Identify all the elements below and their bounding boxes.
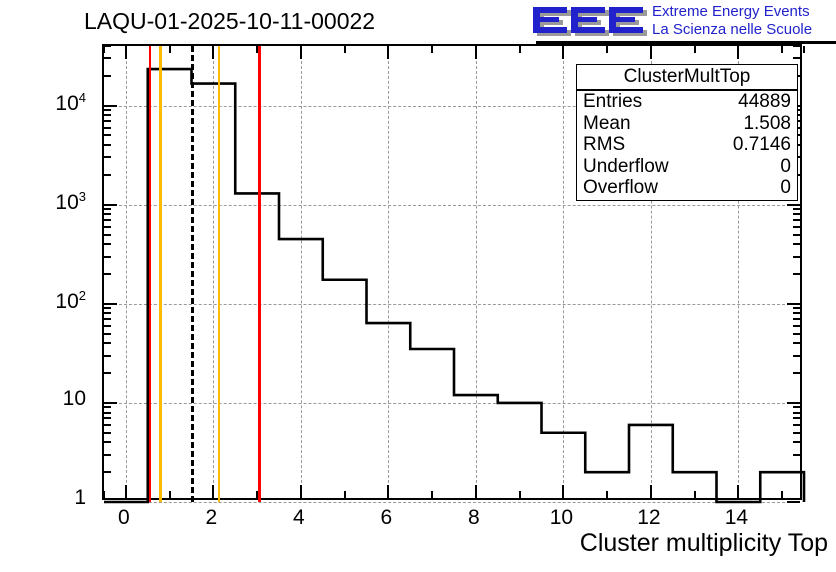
gridline-horizontal (104, 502, 800, 503)
eee-logo-line1: Extreme Energy Events (652, 3, 812, 21)
stats-row: Overflow0 (577, 177, 797, 199)
stats-row: Entries44889 (577, 91, 797, 113)
stats-row-value: 0.7146 (733, 134, 791, 156)
y-axis-tick-label: 102 (0, 288, 86, 314)
x-axis-tick-label: 6 (361, 506, 411, 530)
eee-logo-text: Extreme Energy Events La Scienza nelle S… (652, 3, 812, 39)
stats-row-value: 0 (780, 156, 791, 178)
x-axis-title: Cluster multiplicity Top (580, 529, 828, 558)
x-axis-tick-label: 8 (449, 506, 499, 530)
y-axis-tick-label: 10 (0, 387, 86, 411)
stats-row-label: Mean (583, 113, 631, 135)
x-axis-tick-label: 2 (186, 506, 236, 530)
eee-logo-line2: La Scienza nelle Scuole (652, 21, 812, 39)
stats-row-value: 0 (780, 177, 791, 199)
x-axis-tick-label: 0 (99, 506, 149, 530)
canvas-root: LAQU-01-2025-10-11-00022 Extreme Energy … (0, 0, 836, 572)
stats-rows: Entries44889Mean1.508RMS0.7146Underflow0… (577, 91, 797, 199)
stats-box: ClusterMultTop Entries44889Mean1.508RMS0… (576, 64, 798, 201)
eee-logo: Extreme Energy Events La Scienza nelle S… (530, 2, 830, 42)
stats-row: Underflow0 (577, 156, 797, 178)
stats-row-label: RMS (583, 134, 625, 156)
page-title: LAQU-01-2025-10-11-00022 (84, 8, 375, 35)
marker-line-yellow-low (159, 46, 162, 502)
x-axis-tick-label: 10 (536, 506, 586, 530)
stats-row-value: 44889 (738, 91, 791, 113)
y-axis-tick-label: 104 (0, 90, 86, 116)
stats-title: ClusterMultTop (577, 65, 797, 91)
stats-row-label: Underflow (583, 156, 669, 178)
eee-logo-mark (530, 5, 648, 39)
marker-line-red-high (258, 46, 261, 502)
marker-line-yellow-high (218, 46, 221, 502)
x-axis-tick-label: 14 (711, 506, 761, 530)
x-axis-tick-label: 4 (274, 506, 324, 530)
y-axis-tick-label: 103 (0, 189, 86, 215)
y-axis-tick-label: 1 (0, 486, 86, 510)
stats-row-value: 1.508 (743, 113, 791, 135)
marker-line-black-mean (191, 46, 194, 502)
x-axis-tick-label: 12 (624, 506, 674, 530)
stats-row: RMS0.7146 (577, 134, 797, 156)
marker-line-red-low (149, 46, 152, 502)
stats-row: Mean1.508 (577, 113, 797, 135)
stats-row-label: Entries (583, 91, 642, 113)
stats-row-label: Overflow (583, 177, 658, 199)
